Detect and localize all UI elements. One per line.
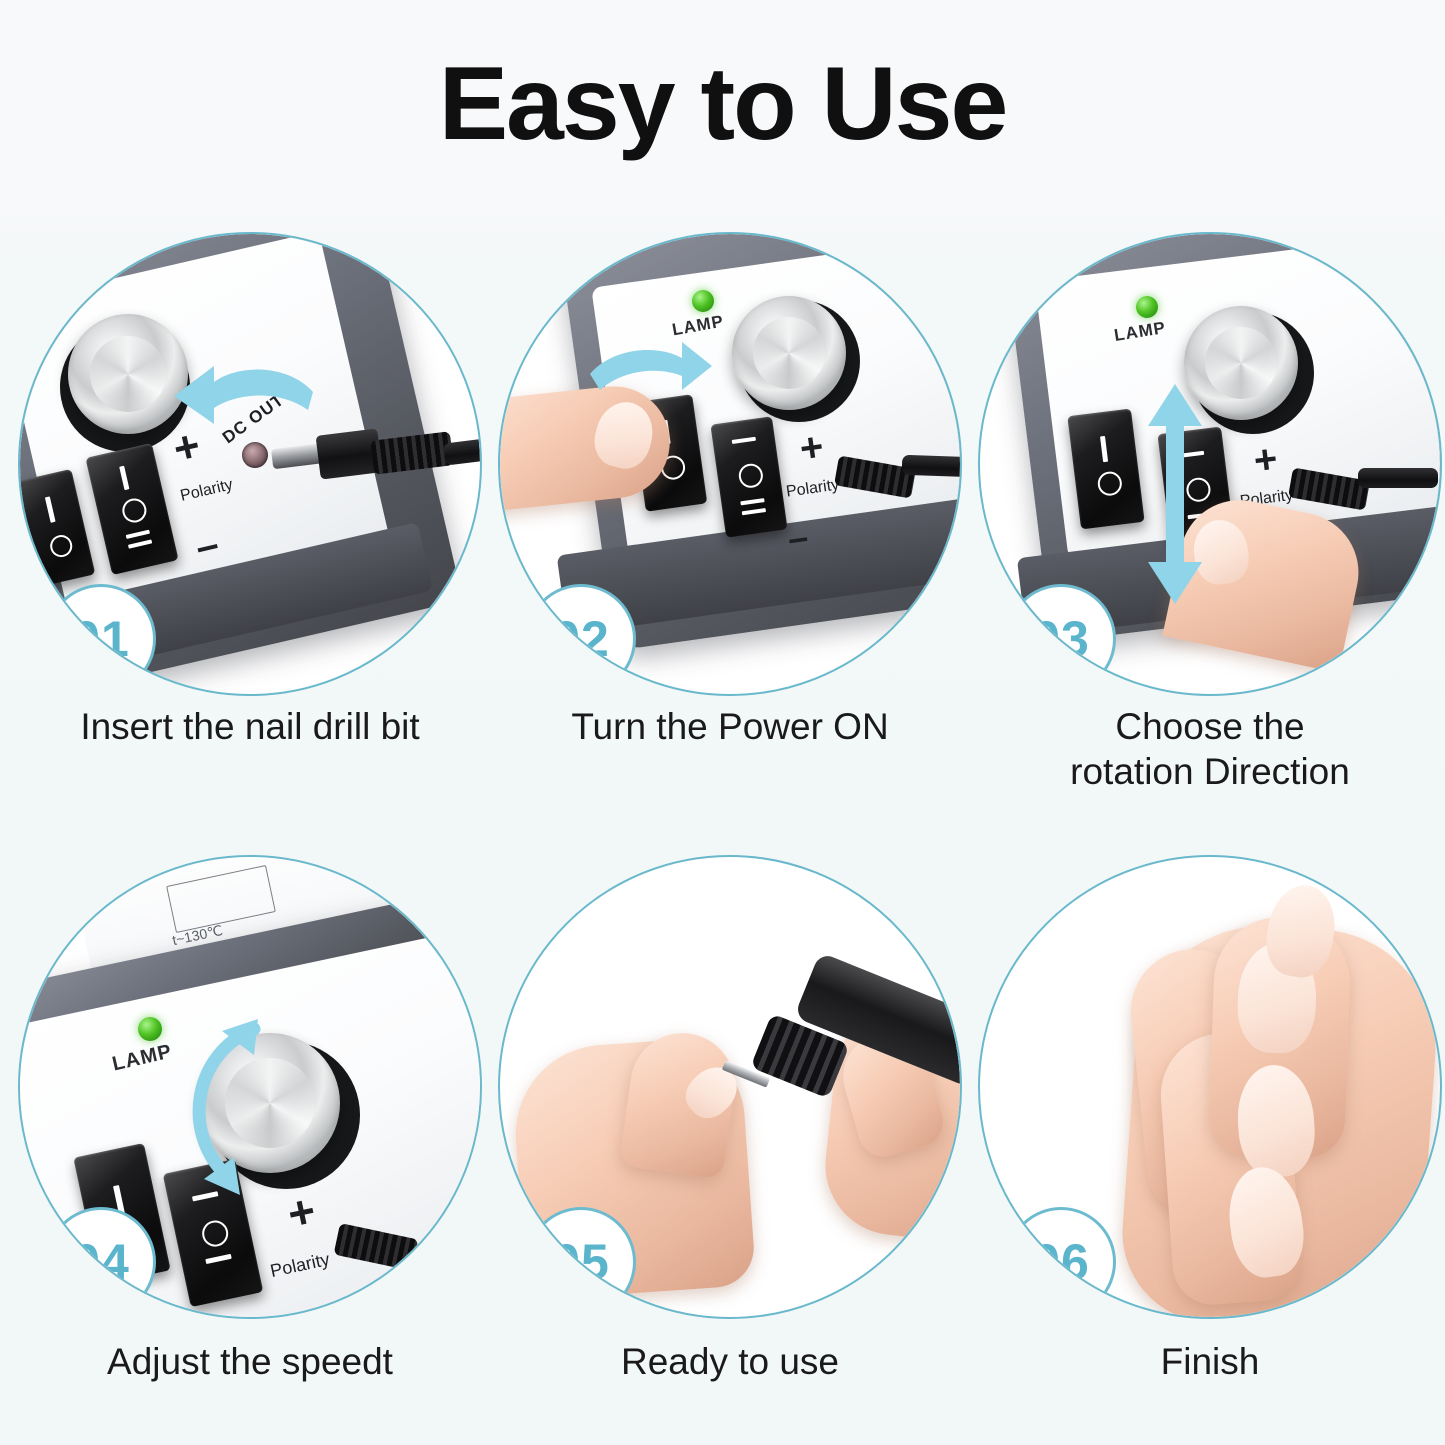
infographic-page: Easy to Use bbox=[0, 0, 1445, 1445]
speed-knob bbox=[732, 296, 846, 410]
dc-cable bbox=[1358, 468, 1438, 488]
rocker-bar-glyph bbox=[740, 498, 764, 505]
step-photo-05: 05 bbox=[498, 855, 962, 1319]
step-number-06: 06 bbox=[1032, 1233, 1090, 1291]
rocker-bar-glyph bbox=[732, 437, 756, 444]
step-card-01: + Polarity – DC OUT 01 Inse bbox=[18, 232, 482, 696]
step-photo-03: LAMP + Polarity bbox=[978, 232, 1442, 696]
rocker-line-glyph bbox=[119, 466, 129, 491]
rocker-bar-glyph bbox=[128, 539, 152, 548]
step-caption-04: Adjust the speedt bbox=[18, 1339, 482, 1384]
step-badge-05: 05 bbox=[526, 1207, 636, 1317]
step-photo-02: LAMP + Polarity – bbox=[498, 232, 962, 696]
rocker-bar-glyph bbox=[742, 508, 766, 515]
power-rocker-switch[interactable] bbox=[1067, 409, 1144, 530]
curved-double-arrow-icon bbox=[158, 1017, 268, 1197]
step-badge-03: 03 bbox=[1006, 584, 1116, 694]
step-badge-06: 06 bbox=[1006, 1207, 1116, 1317]
left-arrow-icon bbox=[168, 362, 318, 442]
lamp-led-indicator bbox=[1136, 296, 1158, 318]
step-number-02: 02 bbox=[552, 610, 610, 668]
step-caption-06: Finish bbox=[978, 1339, 1442, 1384]
rocker-circle-glyph bbox=[48, 533, 74, 559]
step-number-04: 04 bbox=[72, 1233, 130, 1291]
up-down-double-arrow-icon bbox=[1140, 384, 1210, 604]
lamp-led-indicator bbox=[692, 290, 714, 312]
dc-out-port bbox=[242, 442, 268, 468]
step-badge-02: 02 bbox=[526, 584, 636, 694]
polarity-plus-label: + bbox=[1252, 439, 1280, 482]
step-card-05: 05 Ready to use bbox=[498, 855, 962, 1319]
step-caption-05: Ready to use bbox=[498, 1339, 962, 1384]
step-number-01: 01 bbox=[72, 610, 130, 668]
steps-grid: + Polarity – DC OUT 01 Inse bbox=[0, 0, 1445, 1445]
step-caption-03-line2: rotation Direction bbox=[978, 749, 1442, 794]
step-caption-01: Insert the nail drill bit bbox=[18, 704, 482, 749]
rocker-circle-glyph bbox=[1096, 470, 1123, 497]
rocker-line-glyph bbox=[1100, 436, 1108, 462]
step-card-03: LAMP + Polarity bbox=[978, 232, 1442, 696]
rocker-circle-glyph bbox=[200, 1218, 231, 1249]
rocker-bar-glyph bbox=[205, 1254, 231, 1264]
step-card-06: 06 Finish bbox=[978, 855, 1442, 1319]
rocker-circle-glyph bbox=[120, 496, 149, 525]
rocker-circle-glyph bbox=[737, 462, 764, 489]
step-caption-02: Turn the Power ON bbox=[498, 704, 962, 749]
step-card-04: t~130℃ INDOOR LAMP bbox=[18, 855, 482, 1319]
step-card-02: LAMP + Polarity – bbox=[498, 232, 962, 696]
step-caption-03-line1: Choose the bbox=[978, 704, 1442, 749]
step-caption-03: Choose the rotation Direction bbox=[978, 704, 1442, 794]
step-badge-04: 04 bbox=[46, 1207, 156, 1317]
step-photo-06: 06 bbox=[978, 855, 1442, 1319]
rocker-line-glyph bbox=[45, 496, 56, 522]
dc-cable bbox=[902, 455, 960, 477]
step-badge-01: 01 bbox=[46, 584, 156, 694]
rocker-bar-glyph bbox=[126, 530, 150, 539]
right-arrow-icon bbox=[586, 334, 716, 400]
step-number-05: 05 bbox=[552, 1233, 610, 1291]
step-number-03: 03 bbox=[1032, 610, 1090, 668]
step-photo-04: t~130℃ INDOOR LAMP bbox=[18, 855, 482, 1319]
step-photo-01: + Polarity – DC OUT 01 bbox=[18, 232, 482, 696]
